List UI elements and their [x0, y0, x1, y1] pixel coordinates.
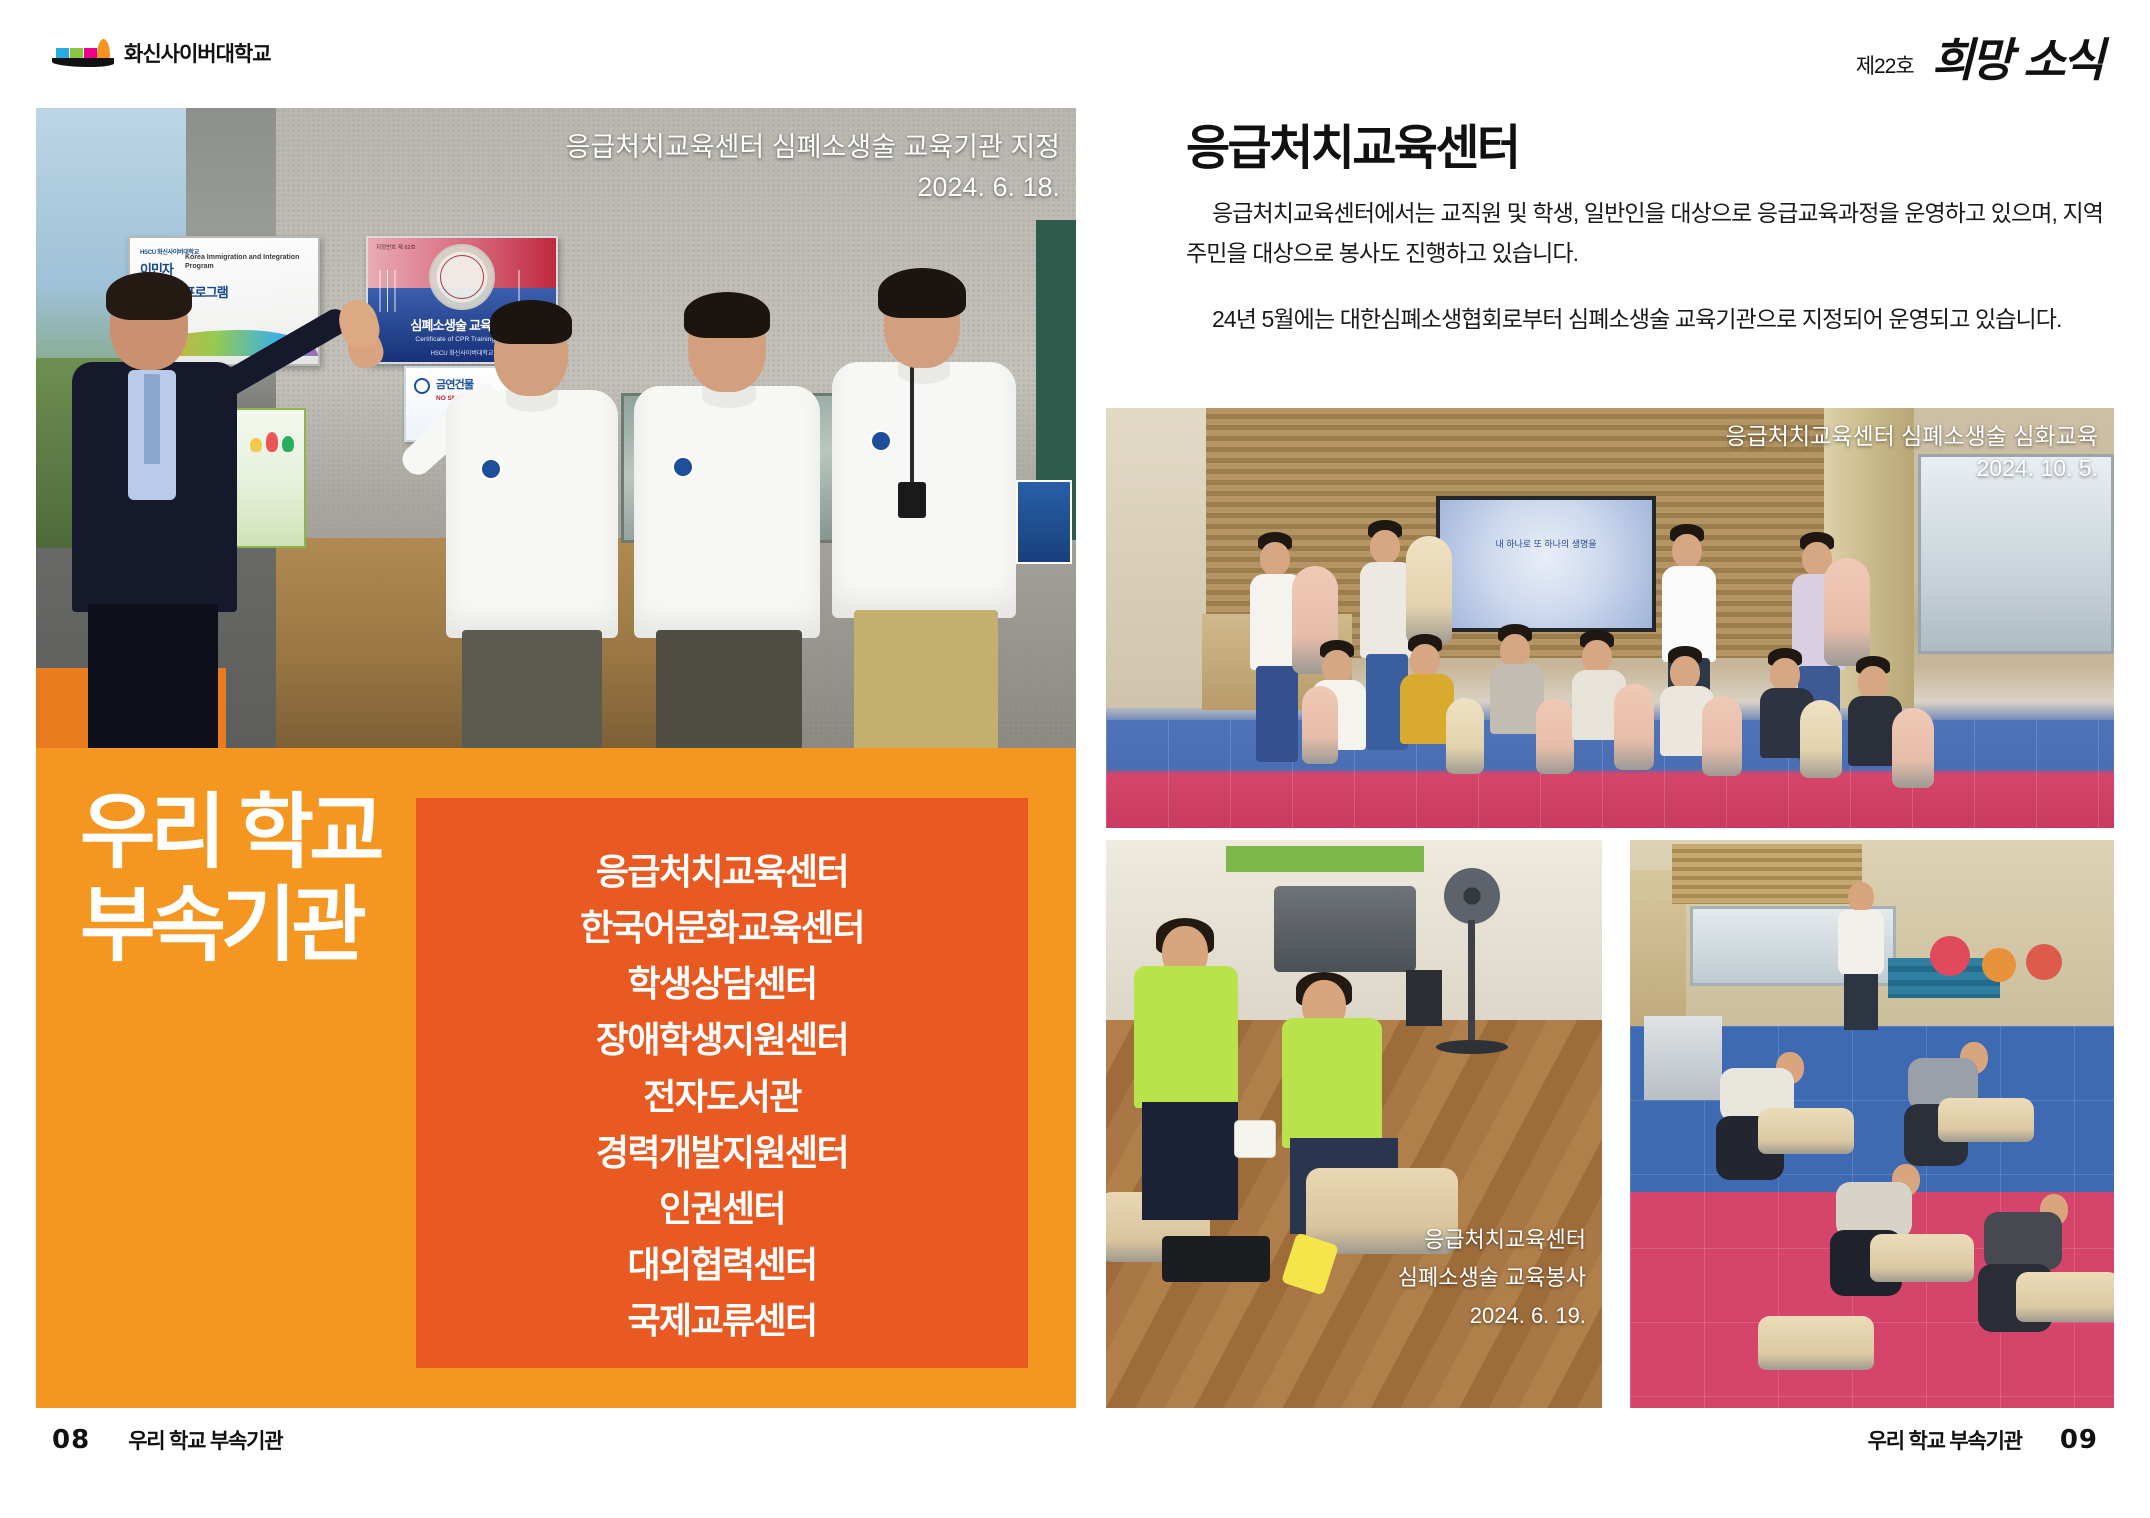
article-paragraph-1: 응급처치교육센터에서는 교직원 및 학생, 일반인을 대상으로 응급교육과정을 …: [1186, 194, 2114, 273]
photo-caption-line2: 2024. 6. 18.: [917, 170, 1060, 205]
page-header: 화신사이버대학교 제22호 희망 소식: [0, 0, 2150, 88]
tv-slide-text: 내 하나로 또 하나의 생명을: [1440, 538, 1652, 552]
cpr-manikin: [1938, 1098, 2034, 1142]
footer-right: 우리 학교 부속기관 09: [1868, 1425, 2098, 1455]
cpr-manikin: [1870, 1234, 1974, 1282]
left-page-number: 08: [52, 1425, 90, 1455]
person-suit: [66, 278, 241, 748]
block-title: 우리 학교 부속기관: [80, 786, 380, 973]
block-title-line2: 부속기관: [80, 879, 380, 972]
page-title: 응급처치교육센터: [1186, 108, 1518, 178]
photo-aed-volunteer: 응급처치교육센터 심폐소생술 교육봉사 2024. 6. 19.: [1106, 840, 1602, 1408]
aed-device-icon: [1234, 1120, 1276, 1158]
instructor: [1836, 882, 1884, 1028]
list-item: 전자도서관: [416, 1069, 1028, 1125]
photo-caption-line1: 응급처치교육센터 심폐소생술 교육기관 지정: [566, 130, 1060, 165]
logo-text: 화신사이버대학교: [124, 38, 271, 68]
list-item: 국제교류센터: [416, 1293, 1028, 1349]
list-item: 경력개발지원센터: [416, 1125, 1028, 1181]
person-polo-2: [626, 300, 826, 748]
list-item: 장애학생지원센터: [416, 1012, 1028, 1068]
list-item: 인권센터: [416, 1181, 1028, 1237]
left-section-label: 우리 학교 부속기관: [128, 1425, 282, 1455]
issue-number: 제22호: [1856, 50, 1914, 90]
right-page: 응급처치교육센터 응급처치교육센터에서는 교직원 및 학생, 일반인을 대상으로…: [1186, 108, 2114, 1408]
issue-masthead: 제22호 희망 소식: [1856, 24, 2102, 90]
photo-gym-cpr-practice: [1630, 840, 2114, 1408]
person-polo-3: [826, 278, 1026, 748]
list-item: 응급처치교육센터: [416, 844, 1028, 900]
article-paragraph-2: 24년 5월에는 대한심폐소생협회로부터 심폐소생술 교육기관으로 지정되어 운…: [1186, 300, 2114, 340]
footer-left: 08 우리 학교 부속기관: [52, 1425, 282, 1455]
right-section-label: 우리 학교 부속기관: [1868, 1425, 2022, 1455]
people-icons: [250, 432, 294, 452]
affiliated-institutions-block: 우리 학교 부속기관 응급처치교육센터 한국어문화교육센터 학생상담센터 장애학…: [36, 748, 1076, 1408]
block-title-line1: 우리 학교: [80, 786, 380, 879]
list-item: 대외협력센터: [416, 1237, 1028, 1293]
person-polo-1: [436, 308, 626, 748]
photo-aed-caption-line3: 2024. 6. 19.: [1470, 1302, 1586, 1331]
centers-list: 응급처치교육센터 한국어문화교육센터 학생상담센터 장애학생지원센터 전자도서관…: [416, 844, 1028, 1349]
presentation-screen: 내 하나로 또 하나의 생명을: [1436, 496, 1656, 632]
university-logo: 화신사이버대학교: [52, 38, 271, 68]
plaque-en-line: Korea Immigration and Integration Progra…: [185, 254, 318, 272]
list-item: 한국어문화교육센터: [416, 900, 1028, 956]
cpr-manikin: [1758, 1108, 1854, 1154]
photo-aed-caption-line2: 심폐소생술 교육봉사: [1398, 1264, 1586, 1293]
logo-mark-icon: [52, 39, 114, 67]
cpr-manikin: [1758, 1316, 1874, 1370]
photo-group-caption-line1: 응급처치교육센터 심폐소생술 심화교육: [1725, 422, 2098, 452]
photo-plaque-designation: HSCU 화신사이버대학교 이민자 Korea Immigration and …: [36, 108, 1076, 748]
list-item: 학생상담센터: [416, 956, 1028, 1012]
page-footer: 08 우리 학교 부속기관 우리 학교 부속기관 09: [0, 1425, 2150, 1485]
plaque-cert-number: 지정번호 제 62호: [376, 243, 416, 251]
cpr-association-seal-icon: [429, 244, 495, 310]
left-page: HSCU 화신사이버대학교 이민자 Korea Immigration and …: [36, 108, 1076, 1408]
cpr-manikin: [2016, 1272, 2114, 1322]
no-smoking-icon: [414, 378, 430, 394]
photo-group-caption-line2: 2024. 10. 5.: [1977, 454, 2099, 484]
photo-cpr-group-training: 내 하나로 또 하나의 생명을: [1106, 408, 2114, 828]
photo-aed-caption-line1: 응급처치교육센터: [1424, 1226, 1586, 1255]
right-page-number: 09: [2060, 1425, 2098, 1455]
aed-case: [1162, 1236, 1270, 1282]
newsletter-title: 희망 소식: [1932, 24, 2102, 90]
centers-list-box: 응급처치교육센터 한국어문화교육센터 학생상담센터 장애학생지원센터 전자도서관…: [416, 798, 1028, 1368]
